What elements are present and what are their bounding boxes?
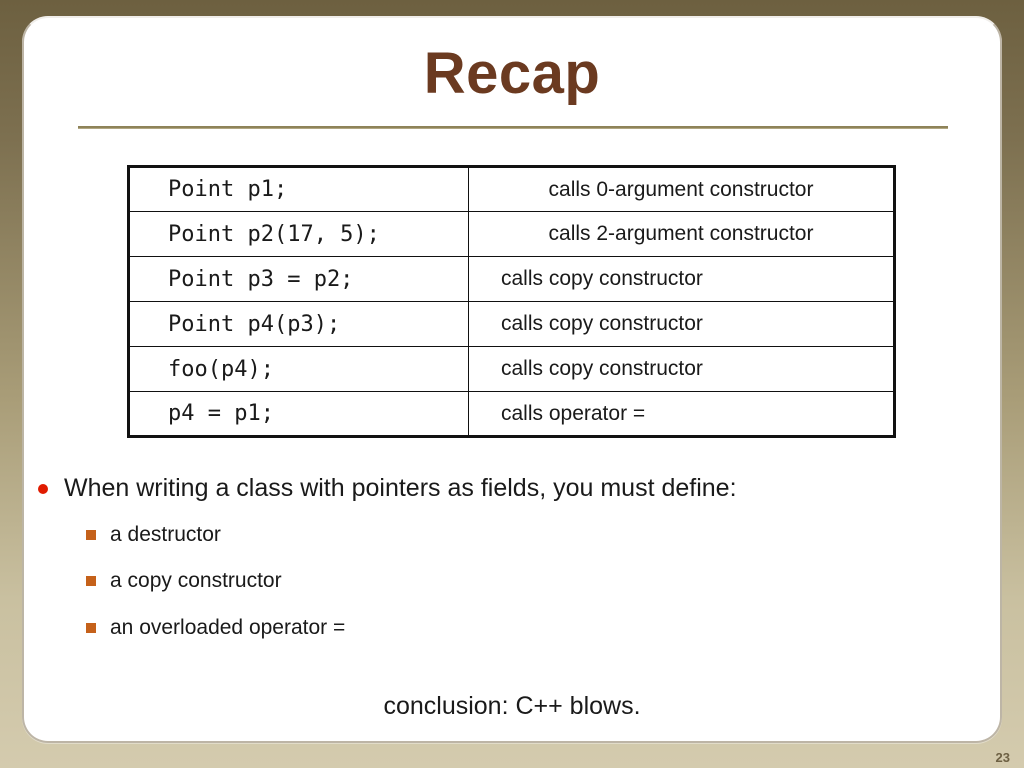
bullet-list: When writing a class with pointers as fi… (34, 473, 974, 661)
page-title: Recap (0, 44, 1024, 105)
table-row: Point p1; calls 0-argument constructor (129, 167, 895, 212)
table-row: Point p4(p3); calls copy constructor (129, 302, 895, 347)
sub-bullet-item-label: a copy constructor (110, 569, 282, 592)
bullet-item-main: When writing a class with pointers as fi… (34, 473, 974, 504)
sub-bullet-item-label: a destructor (110, 523, 221, 546)
bullet-square-icon (86, 576, 96, 586)
sub-bullet-item-destructor: a destructor (34, 522, 974, 547)
table-cell-code: Point p3 = p2; (129, 257, 469, 302)
table-row: Point p2(17, 5); calls 2-argument constr… (129, 212, 895, 257)
table-row: p4 = p1; calls operator = (129, 392, 895, 437)
table-row: foo(p4); calls copy constructor (129, 347, 895, 392)
table-cell-code: Point p4(p3); (129, 302, 469, 347)
table-row: Point p3 = p2; calls copy constructor (129, 257, 895, 302)
bullet-item-label: When writing a class with pointers as fi… (64, 474, 737, 502)
table-cell-description: calls copy constructor (469, 257, 895, 302)
table-cell-code: foo(p4); (129, 347, 469, 392)
slide: Recap Point p1; calls 0-argument constru… (0, 0, 1024, 768)
sub-bullet-item-label: an overloaded operator = (110, 616, 345, 639)
table-cell-code: Point p1; (129, 167, 469, 212)
constructor-calls-table: Point p1; calls 0-argument constructor P… (127, 165, 896, 438)
bullet-dot-icon (38, 484, 48, 494)
table-cell-description: calls 0-argument constructor (469, 167, 895, 212)
sub-bullet-item-copy-constructor: a copy constructor (34, 568, 974, 593)
title-divider (78, 126, 948, 129)
sub-bullet-item-overloaded-operator: an overloaded operator = (34, 615, 974, 640)
table-cell-description: calls copy constructor (469, 302, 895, 347)
bullet-square-icon (86, 623, 96, 633)
table-cell-description: calls 2-argument constructor (469, 212, 895, 257)
table-cell-description: calls copy constructor (469, 347, 895, 392)
bullet-square-icon (86, 530, 96, 540)
table-cell-description: calls operator = (469, 392, 895, 437)
table-body: Point p1; calls 0-argument constructor P… (129, 167, 895, 437)
closing-statement: conclusion: C++ blows. (0, 692, 1024, 721)
page-number: 23 (996, 750, 1010, 765)
table-cell-code: Point p2(17, 5); (129, 212, 469, 257)
table-cell-code: p4 = p1; (129, 392, 469, 437)
